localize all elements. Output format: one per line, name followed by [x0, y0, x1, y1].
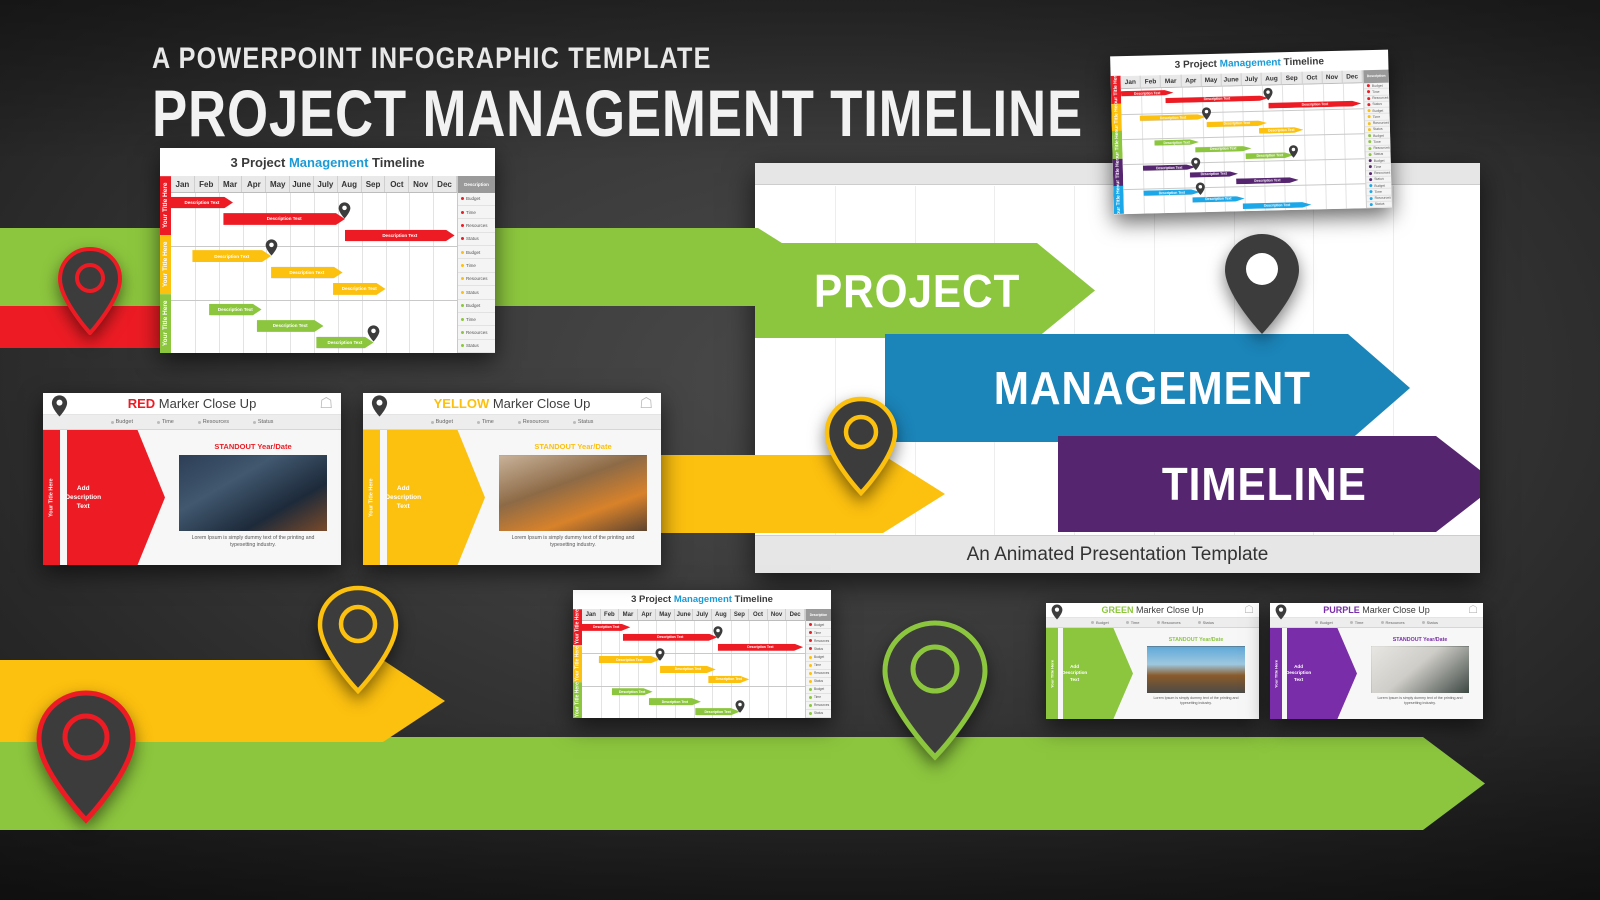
- gantt-gridline: [409, 193, 410, 354]
- gantt-legend-label: Resources: [466, 276, 488, 281]
- map-pin-icon-header[interactable]: [371, 395, 388, 417]
- legend-bullet-icon: [1367, 103, 1370, 106]
- gantt-bar[interactable]: Description Text: [333, 283, 385, 295]
- hero-arrow-timeline[interactable]: TIMELINE: [1058, 436, 1480, 532]
- gantt-month-cell: Dec: [1342, 70, 1362, 82]
- legend-bullet-icon: [1368, 134, 1371, 137]
- marker-slide-content: STANDOUT Year/Date Lorem Ipsum is simply…: [1133, 628, 1259, 719]
- gantt-legend-label: Time: [814, 631, 821, 635]
- legend-bullet-icon: [1368, 140, 1371, 143]
- marker-slide-rail: Your Title Here: [43, 430, 60, 565]
- marker-slide-header: RED Marker Close Up ☖: [43, 393, 341, 415]
- gantt-gridline: [619, 621, 620, 718]
- map-pin-icon-header[interactable]: [1275, 604, 1287, 620]
- gantt-legend: DescriptionBudgetTimeResourcesStatusBudg…: [1363, 70, 1392, 209]
- page-main-title: PROJECT MANAGEMENT TIMELINE: [152, 80, 1083, 146]
- gantt-plot: JanFebMarAprMayJuneJulyAugSepOctNovDec D…: [582, 609, 805, 718]
- marker-nav-item[interactable]: Status: [1198, 618, 1214, 627]
- gantt-bar[interactable]: Description Text: [612, 688, 653, 695]
- gantt-legend-label: Time: [1373, 140, 1381, 144]
- gantt-legend-label: Resources: [1374, 171, 1390, 175]
- gantt-legend-label: Time: [1372, 90, 1380, 94]
- marker-standout-label: STANDOUT Year/Date: [1169, 637, 1224, 643]
- gantt-bar[interactable]: Description Text: [192, 250, 271, 262]
- gantt-gridline: [433, 193, 434, 354]
- hero-arrow-project[interactable]: PROJECT: [755, 243, 1095, 338]
- map-pin-icon-header[interactable]: [1051, 604, 1063, 620]
- marker-slide-header: YELLOW Marker Close Up ☖: [363, 393, 661, 415]
- gantt-bar[interactable]: Description Text: [316, 337, 373, 349]
- gantt-legend-label: Status: [466, 343, 479, 348]
- gantt-month-header: JanFebMarAprMayJuneJulyAugSepOctNovDec: [582, 609, 805, 621]
- gantt-bar[interactable]: Description Text: [223, 213, 345, 225]
- gantt-map-pin-icon[interactable]: [1195, 182, 1205, 195]
- gantt-legend-item[interactable]: Status: [806, 645, 831, 653]
- gantt-grid: Description TextDescription Text Descrip…: [171, 193, 457, 354]
- marker-photo[interactable]: [1147, 646, 1245, 694]
- gantt-legend-label: Budget: [814, 623, 824, 627]
- gantt-month-cell: May: [656, 609, 675, 620]
- gantt-month-cell: Feb: [195, 176, 219, 192]
- marker-slide-green[interactable]: GREEN Marker Close Up ☖ BudgetTimeResour…: [1046, 603, 1259, 719]
- gantt-bar[interactable]: Description Text: [1243, 202, 1312, 209]
- gantt-row-label: Your Title Here: [160, 294, 171, 353]
- legend-bullet-icon: [1369, 190, 1372, 193]
- gantt-legend-label: Budget: [1372, 108, 1383, 112]
- gantt-map-pin-icon[interactable]: [338, 202, 351, 219]
- legend-bullet-icon: [809, 631, 812, 634]
- marker-standout-label: STANDOUT Year/Date: [1393, 637, 1448, 643]
- marker-standout-label: STANDOUT Year/Date: [214, 442, 291, 451]
- marker-slide-title: YELLOW Marker Close Up: [363, 396, 661, 411]
- home-icon[interactable]: ☖: [640, 396, 653, 411]
- marker-slide-title-rest: Marker Close Up: [1133, 605, 1203, 615]
- legend-bullet-icon: [1367, 97, 1370, 100]
- gantt-legend-label: Time: [1374, 165, 1382, 169]
- gantt-legend-label: Status: [814, 711, 823, 715]
- gantt-legend-label: Budget: [466, 196, 480, 201]
- marker-slide-red[interactable]: RED Marker Close Up ☖ BudgetTimeResource…: [43, 393, 341, 565]
- legend-bullet-icon: [461, 344, 464, 347]
- gantt-legend-item[interactable]: Resources: [458, 219, 495, 232]
- marker-slide-nav: BudgetTimeResourcesStatus: [43, 415, 341, 430]
- band-green-lower: [0, 737, 1485, 830]
- gantt-legend-item[interactable]: Status: [806, 678, 831, 686]
- gantt-row-divider: [171, 246, 457, 247]
- gantt-month-cell: Feb: [601, 609, 620, 620]
- gantt-bar[interactable]: Description Text: [1144, 189, 1201, 196]
- gantt-bar[interactable]: Description Text: [209, 304, 261, 316]
- gantt-bar[interactable]: Description Text: [708, 676, 749, 683]
- gantt-legend-item[interactable]: Budget: [458, 300, 495, 313]
- gantt-legend-label: Budget: [1373, 133, 1384, 137]
- marker-slide-title: RED Marker Close Up: [43, 396, 341, 411]
- gantt-row-label: Your Title Here: [573, 682, 582, 718]
- marker-slide-nav: BudgetTimeResourcesStatus: [1046, 618, 1259, 628]
- gantt-legend-label: Status: [1373, 127, 1383, 131]
- legend-bullet-icon: [1368, 147, 1371, 150]
- gantt-row-divider: [171, 300, 457, 301]
- gantt-legend-item[interactable]: Budget: [806, 654, 831, 662]
- gantt-row-label: Your Title Here: [160, 176, 171, 235]
- marker-slide-title-rest: Marker Close Up: [155, 396, 256, 411]
- marker-caption: Lorem Ipsum is simply dummy text of the …: [1147, 696, 1245, 706]
- gantt-legend-item[interactable]: Resources: [806, 702, 831, 710]
- map-pin-icon-yellow-1[interactable]: [316, 585, 400, 695]
- gantt-month-cell: Nov: [1322, 71, 1342, 83]
- gantt-title-suffix: Timeline: [732, 594, 773, 605]
- gantt-map-pin-icon[interactable]: [713, 626, 723, 639]
- gantt-bar[interactable]: Description Text: [1143, 164, 1196, 171]
- legend-bullet-icon: [1369, 159, 1372, 162]
- legend-bullet-icon: [809, 656, 812, 659]
- gantt-month-cell: Jan: [171, 176, 195, 192]
- gantt-map-pin-icon[interactable]: [265, 239, 278, 256]
- marker-nav-item[interactable]: Resources: [198, 415, 229, 429]
- gantt-month-cell: July: [693, 609, 712, 620]
- gantt-legend-label: Resources: [466, 330, 488, 335]
- legend-bullet-icon: [809, 680, 812, 683]
- marker-slide-title: GREEN Marker Close Up: [1046, 605, 1259, 615]
- gantt-legend-label: Status: [814, 647, 823, 651]
- gantt-grid: Description TextDescription Text Descrip…: [582, 621, 805, 718]
- marker-slide-nav: BudgetTimeResourcesStatus: [363, 415, 661, 430]
- legend-bullet-icon: [1369, 184, 1372, 187]
- marker-slide-nav: BudgetTimeResourcesStatus: [1270, 618, 1483, 628]
- marker-slide-header: PURPLE Marker Close Up ☖: [1270, 603, 1483, 618]
- gantt-month-cell: Sep: [731, 609, 750, 620]
- gantt-bar[interactable]: Description Text: [257, 320, 324, 332]
- gantt-legend-item[interactable]: Resources: [806, 670, 831, 678]
- gantt-title: 3 Project Management Timeline: [160, 148, 495, 176]
- gantt-gridline: [601, 621, 602, 718]
- gantt-bar[interactable]: Description Text: [623, 634, 718, 641]
- legend-bullet-icon: [809, 639, 812, 642]
- gantt-legend-header: Description: [806, 609, 831, 621]
- gantt-slide-top-left[interactable]: 3 Project Management Timeline Your Title…: [160, 148, 495, 353]
- legend-bullet-icon: [1367, 109, 1370, 112]
- gantt-bar[interactable]: Description Text: [345, 230, 455, 242]
- marker-nav-item[interactable]: Resources: [518, 415, 549, 429]
- marker-slide-rail: Your Title Here: [1046, 628, 1058, 719]
- marker-slide-title-color: PURPLE: [1323, 605, 1360, 615]
- gantt-month-cell: Oct: [749, 609, 768, 620]
- gantt-bar[interactable]: Description Text: [718, 644, 803, 651]
- marker-nav-item[interactable]: Resources: [1157, 618, 1181, 627]
- gantt-legend-label: Time: [814, 695, 821, 699]
- gantt-legend-label: Budget: [466, 250, 480, 255]
- legend-bullet-icon: [1370, 203, 1373, 206]
- marker-nav-item[interactable]: Time: [477, 415, 494, 429]
- legend-bullet-icon: [1370, 197, 1373, 200]
- map-pin-icon-red-1[interactable]: [57, 247, 123, 335]
- gantt-legend-item[interactable]: Status: [458, 286, 495, 299]
- gantt-legend-item[interactable]: Time: [806, 662, 831, 670]
- legend-bullet-icon: [461, 291, 464, 294]
- gantt-legend-label: Time: [814, 663, 821, 667]
- legend-bullet-icon: [809, 704, 812, 707]
- gantt-bar[interactable]: Description Text: [582, 624, 630, 631]
- marker-slide-body: Your Title Here Add Description Text STA…: [1270, 628, 1483, 719]
- gantt-month-cell: Nov: [409, 176, 433, 192]
- marker-photo[interactable]: [179, 455, 327, 531]
- gantt-map-pin-icon[interactable]: [367, 325, 380, 342]
- marker-nav-item[interactable]: Budget: [111, 415, 133, 429]
- gantt-legend-header: Description: [1364, 70, 1389, 84]
- gantt-legend-item[interactable]: Budget: [806, 686, 831, 694]
- legend-bullet-icon: [461, 224, 464, 227]
- gantt-row-divider: [582, 653, 805, 654]
- legend-bullet-icon: [461, 251, 464, 254]
- gantt-title-prefix: 3 Project: [230, 155, 289, 170]
- marker-nav-item[interactable]: Status: [253, 415, 274, 429]
- marker-slide-content: STANDOUT Year/Date Lorem Ipsum is simply…: [485, 430, 661, 565]
- legend-bullet-icon: [809, 647, 812, 650]
- page-subtitle: A POWERPOINT INFOGRAPHIC TEMPLATE: [152, 42, 1130, 76]
- gantt-legend-item[interactable]: Budget: [806, 621, 831, 629]
- marker-slide-title-color: GREEN: [1101, 605, 1133, 615]
- gantt-gridline: [768, 621, 769, 718]
- gantt-legend-label: Budget: [1372, 83, 1383, 87]
- gantt-row-divider: [582, 686, 805, 687]
- gantt-legend-item[interactable]: Time: [806, 629, 831, 637]
- gantt-legend-item[interactable]: Time: [458, 313, 495, 326]
- legend-bullet-icon: [461, 197, 464, 200]
- map-pin-icon-yellow-2[interactable]: [823, 396, 899, 496]
- gantt-gridline: [731, 621, 732, 718]
- marker-nav-item[interactable]: Time: [1350, 618, 1364, 627]
- gantt-bar[interactable]: Description Text: [1192, 196, 1245, 203]
- gantt-month-cell: Mar: [619, 609, 638, 620]
- legend-bullet-icon: [1368, 128, 1371, 131]
- marker-nav-item[interactable]: Resources: [1381, 618, 1405, 627]
- marker-slide-title-rest: Marker Close Up: [489, 396, 590, 411]
- gantt-plot: JanFebMarAprMayJuneJulyAugSepOctNovDec D…: [171, 176, 457, 354]
- gantt-month-cell: Nov: [768, 609, 787, 620]
- gantt-month-cell: July: [314, 176, 338, 192]
- legend-bullet-icon: [461, 211, 464, 214]
- marker-standout-label: STANDOUT Year/Date: [534, 442, 611, 451]
- home-icon[interactable]: ☖: [1244, 605, 1254, 616]
- gantt-map-pin-icon[interactable]: [735, 700, 745, 713]
- marker-caption: Lorem Ipsum is simply dummy text of the …: [499, 535, 647, 549]
- map-pin-icon-red-2[interactable]: [34, 690, 138, 824]
- gantt-bar[interactable]: Description Text: [649, 698, 701, 705]
- gantt-legend-label: Resources: [1375, 196, 1391, 200]
- marker-slide-purple[interactable]: PURPLE Marker Close Up ☖ BudgetTimeResou…: [1270, 603, 1483, 719]
- gantt-map-pin-icon[interactable]: [1289, 145, 1299, 158]
- gantt-title-suffix: Timeline: [368, 155, 424, 170]
- marker-nav-item[interactable]: Budget: [431, 415, 453, 429]
- gantt-bar[interactable]: Description Text: [1190, 171, 1239, 178]
- marker-photo[interactable]: [499, 455, 647, 531]
- legend-bullet-icon: [1369, 172, 1372, 175]
- legend-bullet-icon: [809, 712, 812, 715]
- marker-slide-chevron[interactable]: Add Description Text: [1063, 628, 1133, 719]
- legend-bullet-icon: [809, 688, 812, 691]
- legend-bullet-icon: [461, 331, 464, 334]
- marker-slide-body: Your Title Here Add Description Text STA…: [363, 430, 661, 565]
- gantt-legend-label: Resources: [466, 223, 488, 228]
- legend-bullet-icon: [461, 304, 464, 307]
- map-pin-icon-green-1[interactable]: [880, 620, 990, 762]
- marker-caption: Lorem Ipsum is simply dummy text of the …: [179, 535, 327, 549]
- gantt-month-cell: Aug: [338, 176, 362, 192]
- gantt-month-cell: Apr: [242, 176, 266, 192]
- marker-nav-item[interactable]: Time: [157, 415, 174, 429]
- marker-slide-title: PURPLE Marker Close Up: [1270, 605, 1483, 615]
- marker-caption: Lorem Ipsum is simply dummy text of the …: [1371, 696, 1469, 706]
- legend-bullet-icon: [809, 696, 812, 699]
- gantt-legend-label: Status: [1372, 102, 1382, 106]
- gantt-legend-item[interactable]: Resources: [806, 637, 831, 645]
- marker-nav-item[interactable]: Status: [573, 415, 594, 429]
- legend-bullet-icon: [461, 264, 464, 267]
- marker-slide-chevron[interactable]: Add Description Text: [67, 430, 165, 565]
- gantt-legend-item[interactable]: Status: [458, 233, 495, 246]
- gantt-bar[interactable]: Description Text: [660, 666, 716, 673]
- gantt-legend-item[interactable]: Budget: [458, 193, 495, 206]
- marker-slide-content: STANDOUT Year/Date Lorem Ipsum is simply…: [1357, 628, 1483, 719]
- page-title: A POWERPOINT INFOGRAPHIC TEMPLATE PROJEC…: [152, 42, 1316, 146]
- marker-nav-item[interactable]: Time: [1126, 618, 1140, 627]
- gantt-bar[interactable]: Description Text: [271, 267, 343, 279]
- legend-bullet-icon: [1367, 90, 1370, 93]
- gantt-gridline: [362, 193, 363, 354]
- gantt-month-cell: May: [266, 176, 290, 192]
- gantt-legend-label: Status: [1375, 202, 1385, 206]
- gantt-legend-label: Budget: [814, 687, 824, 691]
- legend-bullet-icon: [461, 277, 464, 280]
- gantt-legend-label: Time: [466, 263, 476, 268]
- gantt-legend-label: Resources: [1373, 121, 1389, 125]
- marker-slide-header: GREEN Marker Close Up ☖: [1046, 603, 1259, 618]
- marker-nav-item[interactable]: Budget: [1091, 618, 1109, 627]
- gantt-bar[interactable]: Description Text: [1236, 177, 1299, 184]
- gantt-month-cell: June: [290, 176, 314, 192]
- hero-arrow-label: PROJECT: [814, 264, 1020, 318]
- gantt-legend-label: Status: [466, 290, 479, 295]
- gantt-row-labels: Your Title HereYour Title HereYour Title…: [160, 176, 171, 354]
- gantt-legend-label: Budget: [814, 655, 824, 659]
- gantt-gridline: [386, 193, 387, 354]
- gantt-row-label: Your Title Here: [573, 609, 582, 645]
- gantt-legend: DescriptionBudgetTimeResourcesStatusBudg…: [457, 176, 495, 354]
- gantt-legend-label: Budget: [466, 303, 480, 308]
- gantt-legend-item[interactable]: Status: [1367, 201, 1392, 208]
- gantt-month-cell: Mar: [219, 176, 243, 192]
- legend-bullet-icon: [809, 623, 812, 626]
- legend-bullet-icon: [809, 672, 812, 675]
- marker-slide-rail: Your Title Here: [1270, 628, 1282, 719]
- marker-slide-body: Your Title Here Add Description Text STA…: [1046, 628, 1259, 719]
- gantt-title-highlight: Management: [289, 155, 368, 170]
- gantt-row-label: Your Title Here: [1113, 159, 1124, 187]
- hero-arrow-management[interactable]: MANAGEMENT: [885, 334, 1410, 442]
- gantt-bar[interactable]: Description Text: [1246, 152, 1295, 159]
- legend-bullet-icon: [1369, 165, 1372, 168]
- gantt-bar[interactable]: Description Text: [695, 708, 740, 715]
- marker-slide-chevron[interactable]: Add Description Text: [1287, 628, 1357, 719]
- gantt-legend-label: Budget: [1374, 158, 1385, 162]
- gantt-legend-item[interactable]: Budget: [458, 246, 495, 259]
- marker-slide-title-rest: Marker Close Up: [1360, 605, 1430, 615]
- gantt-title-highlight: Management: [674, 594, 732, 605]
- gantt-month-cell: Jan: [582, 609, 601, 620]
- gantt-legend: DescriptionBudgetTimeResourcesStatusBudg…: [805, 609, 831, 718]
- gantt-map-pin-icon[interactable]: [1190, 157, 1200, 170]
- gantt-legend-label: Budget: [1374, 183, 1385, 187]
- gantt-month-cell: Oct: [385, 176, 409, 192]
- gantt-legend-item[interactable]: Time: [458, 206, 495, 219]
- gantt-map-pin-icon[interactable]: [655, 648, 665, 661]
- gantt-month-cell: June: [675, 609, 694, 620]
- gantt-slide-bottom-center[interactable]: 3 Project Management Timeline Your Title…: [573, 590, 831, 718]
- gantt-legend-label: Resources: [814, 703, 829, 707]
- home-icon[interactable]: ☖: [320, 396, 333, 411]
- gantt-legend-label: Resources: [814, 639, 829, 643]
- home-icon[interactable]: ☖: [1468, 605, 1478, 616]
- marker-nav-item[interactable]: Status: [1422, 618, 1438, 627]
- legend-bullet-icon: [461, 237, 464, 240]
- marker-slide-title-color: YELLOW: [434, 396, 490, 411]
- hero-footer-caption: An Animated Presentation Template: [755, 535, 1480, 573]
- gantt-legend-label: Status: [814, 679, 823, 683]
- gantt-legend-label: Time: [1374, 190, 1382, 194]
- gantt-legend-item[interactable]: Status: [806, 710, 831, 718]
- gantt-row-label: Your Title Here: [160, 235, 171, 294]
- hero-arrow-label: TIMELINE: [1162, 457, 1367, 511]
- gantt-row-label: Your Title Here: [1113, 187, 1124, 215]
- gantt-legend-item[interactable]: Time: [458, 259, 495, 272]
- gantt-month-cell: Dec: [433, 176, 457, 192]
- gantt-bar[interactable]: Description Text: [599, 656, 660, 663]
- gantt-row-label: Your Title Here: [573, 646, 582, 682]
- gantt-legend-label: Status: [466, 236, 479, 241]
- gantt-month-cell: Dec: [786, 609, 805, 620]
- gantt-legend-label: Time: [466, 210, 476, 215]
- marker-slide-title-color: RED: [128, 396, 155, 411]
- gantt-legend-label: Time: [1373, 115, 1381, 119]
- gantt-legend-label: Status: [1374, 152, 1384, 156]
- gantt-legend-item[interactable]: Time: [806, 694, 831, 702]
- gantt-legend-label: Time: [466, 317, 476, 322]
- marker-nav-item[interactable]: Budget: [1315, 618, 1333, 627]
- gantt-title: 3 Project Management Timeline: [573, 590, 831, 609]
- legend-bullet-icon: [1368, 122, 1371, 125]
- gantt-legend-item[interactable]: Resources: [458, 326, 495, 339]
- gantt-month-cell: Apr: [638, 609, 657, 620]
- marker-slide-chevron[interactable]: Add Description Text: [387, 430, 485, 565]
- map-pin-icon-hero-dark[interactable]: [1222, 232, 1302, 336]
- gantt-gridline: [786, 621, 787, 718]
- gantt-month-cell: Aug: [712, 609, 731, 620]
- legend-bullet-icon: [1368, 115, 1371, 118]
- legend-bullet-icon: [1367, 84, 1370, 87]
- gantt-legend-label: Status: [1374, 177, 1384, 181]
- marker-slide-yellow[interactable]: YELLOW Marker Close Up ☖ BudgetTimeResou…: [363, 393, 661, 565]
- gantt-bar[interactable]: Description Text: [171, 197, 233, 209]
- legend-bullet-icon: [809, 664, 812, 667]
- gantt-legend-item[interactable]: Status: [458, 340, 495, 353]
- gantt-title-prefix: 3 Project: [631, 594, 674, 605]
- legend-bullet-icon: [461, 318, 464, 321]
- gantt-legend-item[interactable]: Resources: [458, 273, 495, 286]
- hero-arrow-label: MANAGEMENT: [994, 361, 1311, 415]
- map-pin-icon-header[interactable]: [51, 395, 68, 417]
- gantt-gridline: [219, 193, 220, 354]
- marker-photo[interactable]: [1371, 646, 1469, 694]
